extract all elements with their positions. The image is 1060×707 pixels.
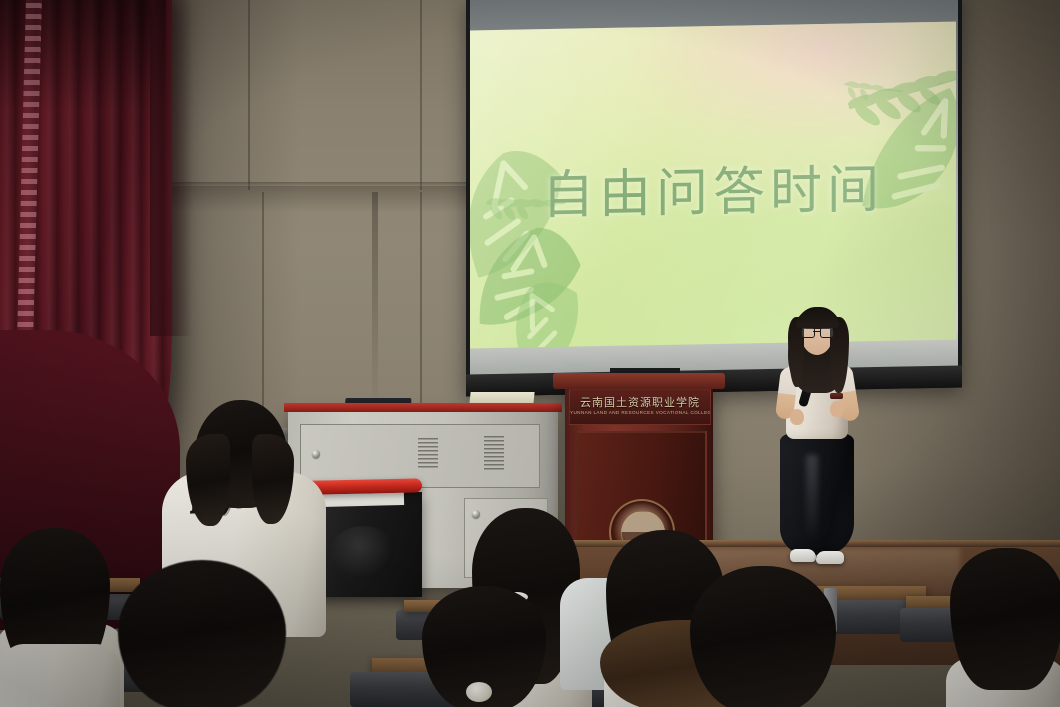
curtain-edge-shadow [150, 0, 192, 336]
podium-top-surface [553, 373, 725, 389]
presenter-shoe-left [790, 549, 816, 562]
glasses-bridge [813, 331, 820, 332]
student-bottom-left [0, 604, 120, 707]
presenter-wristwatch [830, 393, 843, 399]
glasses-lens-right [820, 327, 834, 338]
podium-name-plaque: 云南国土资源职业学院 YUNNAN LAND AND RESOURCES VOC… [569, 389, 711, 425]
presenter-hand-right [830, 401, 844, 417]
student-top [0, 644, 120, 707]
slide-title: 自由问答时间 [470, 146, 956, 230]
student-far-right [946, 548, 1060, 707]
lecture-hall-photo: 自由问答时间 云南国土资源职业学院 YUNNAN LAND AND [0, 0, 1060, 707]
glasses-lens-left [801, 327, 815, 338]
hair-scrunchie [466, 682, 492, 702]
student-head [690, 566, 836, 707]
student-center-scrunchie [418, 586, 548, 707]
projection-screen-frame: 自由问答时间 [466, 0, 962, 397]
podium-name-chinese: 云南国土资源职业学院 [570, 394, 710, 410]
student-front-left-b [112, 560, 292, 707]
speaker-cone [331, 526, 395, 576]
presenter-hand-left [790, 409, 804, 425]
podium-name-english: YUNNAN LAND AND RESOURCES VOCATIONAL COL… [570, 410, 710, 415]
presenter-skirt-highlight [806, 455, 818, 543]
presenter-shoe-right [816, 551, 844, 564]
cabinet-vent [484, 436, 504, 472]
student-right-b [690, 566, 840, 707]
wall-shadow-streak [372, 192, 378, 412]
presenter-speaker [770, 305, 866, 585]
presenter-glasses-icon [801, 327, 833, 336]
student-head [950, 548, 1060, 690]
student-head [118, 560, 286, 707]
cabinet-vent [418, 438, 438, 470]
wall-seam [420, 192, 422, 422]
wall-seam [420, 0, 422, 190]
presentation-slide: 自由问答时间 [470, 22, 956, 349]
